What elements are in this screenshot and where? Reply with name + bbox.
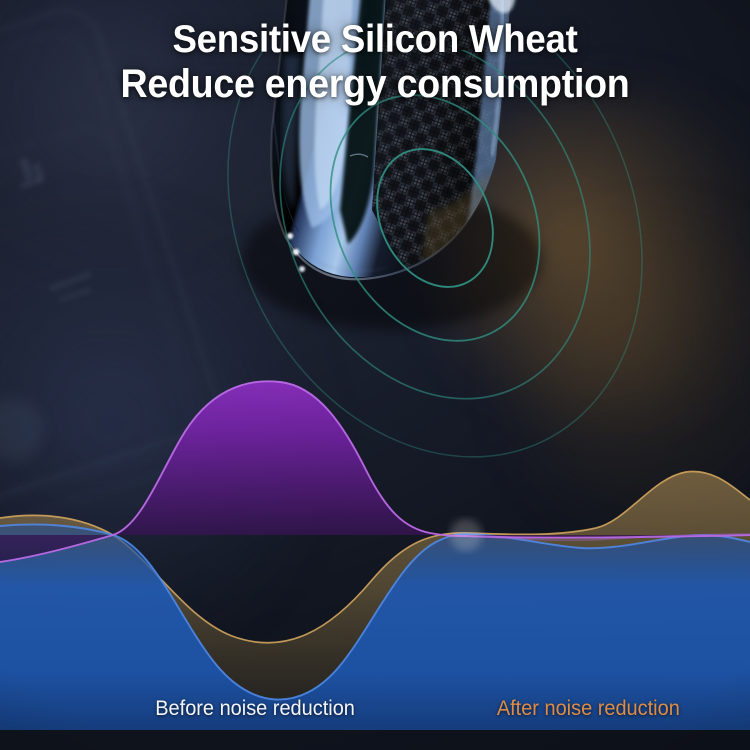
caption-after-noise-reduction: After noise reduction — [497, 696, 680, 722]
waveform-visualization — [0, 330, 750, 730]
headline-block: Sensitive Silicon Wheat Reduce energy co… — [0, 18, 750, 106]
product-banner: Sensitive Silicon Wheat Reduce energy co… — [0, 0, 750, 750]
waveform-divider-intersection-glow — [450, 519, 482, 551]
headline-line-2: Reduce energy consumption — [23, 62, 728, 106]
headline-line-1: Sensitive Silicon Wheat — [23, 18, 728, 62]
caption-before-noise-reduction: Before noise reduction — [155, 696, 355, 722]
